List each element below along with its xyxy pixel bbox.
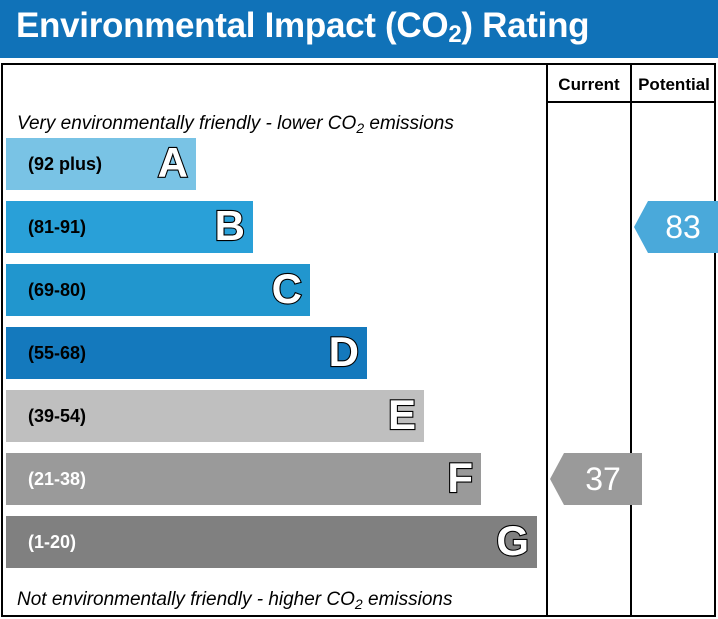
band-letter-a: A xyxy=(158,138,188,190)
rating-value-current: 37 xyxy=(564,453,642,505)
caption-top-post: emissions xyxy=(364,113,454,134)
caption-top-pre: Very environmentally friendly - lower CO xyxy=(17,113,356,134)
page-title-post: ) Rating xyxy=(461,6,589,45)
band-letter-c: C xyxy=(272,264,302,316)
chart-table-frame: Current Potential Very environmentally f… xyxy=(1,63,716,617)
column-header-current: Current xyxy=(548,73,630,97)
page-title-subscript: 2 xyxy=(448,21,461,48)
caption-bottom: Not environmentally friendly - higher CO… xyxy=(17,589,452,611)
rating-band-e: (39-54)E xyxy=(6,390,424,442)
caption-bottom-pre: Not environmentally friendly - higher CO xyxy=(17,589,355,610)
band-letter-b: B xyxy=(215,201,245,253)
rating-arrow-current: 37 xyxy=(550,453,642,505)
band-letter-f: F xyxy=(447,453,473,505)
page-title: Environmental Impact (CO2) Rating xyxy=(16,6,589,46)
rating-band-f: (21-38)F xyxy=(6,453,481,505)
band-letter-e: E xyxy=(388,390,416,442)
column-header-rule xyxy=(546,101,716,103)
band-range-label-a: (92 plus) xyxy=(28,138,102,190)
column-divider-potential xyxy=(630,65,632,615)
band-range-label-c: (69-80) xyxy=(28,264,86,316)
band-range-label-e: (39-54) xyxy=(28,390,86,442)
band-letter-d: D xyxy=(329,327,359,379)
rating-band-d: (55-68)D xyxy=(6,327,367,379)
rating-band-c: (69-80)C xyxy=(6,264,310,316)
rating-value-potential: 83 xyxy=(648,201,718,253)
band-range-label-g: (1-20) xyxy=(28,516,76,568)
band-range-label-b: (81-91) xyxy=(28,201,86,253)
rating-arrow-potential: 83 xyxy=(634,201,718,253)
caption-bottom-subscript: 2 xyxy=(355,596,363,612)
caption-top: Very environmentally friendly - lower CO… xyxy=(17,113,454,135)
band-range-label-f: (21-38) xyxy=(28,453,86,505)
page-title-pre: Environmental Impact (CO xyxy=(16,6,448,45)
band-range-label-d: (55-68) xyxy=(28,327,86,379)
column-header-potential: Potential xyxy=(632,73,716,97)
epc-environmental-impact-chart: Environmental Impact (CO2) Rating Curren… xyxy=(0,0,718,619)
caption-bottom-post: emissions xyxy=(363,589,453,610)
chart-header-bar: Environmental Impact (CO2) Rating xyxy=(0,0,718,58)
rating-band-b: (81-91)B xyxy=(6,201,253,253)
rating-band-g: (1-20)G xyxy=(6,516,537,568)
band-letter-g: G xyxy=(496,516,529,568)
caption-top-subscript: 2 xyxy=(356,120,364,136)
rating-band-a: (92 plus)A xyxy=(6,138,196,190)
column-divider-current xyxy=(546,65,548,615)
